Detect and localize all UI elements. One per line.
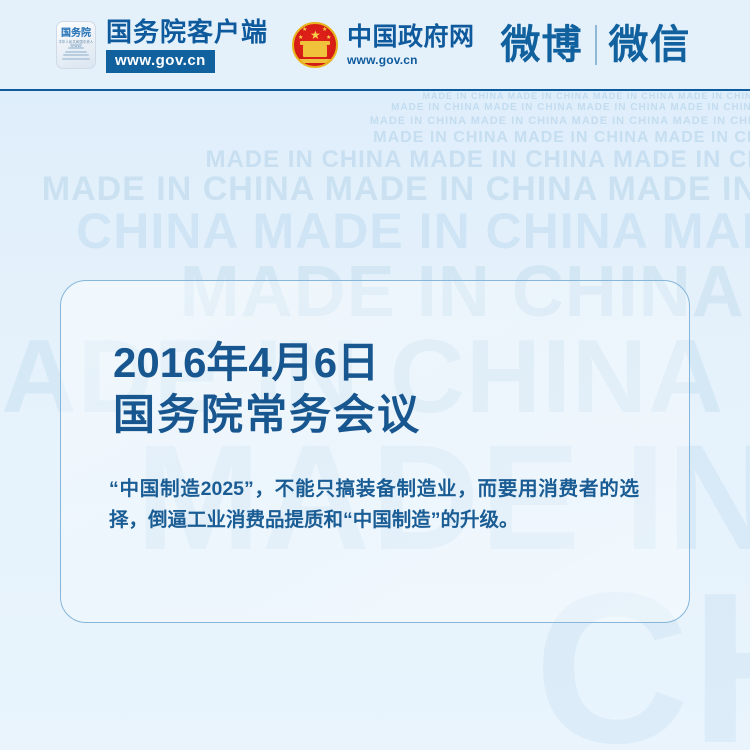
brand-secondary-url[interactable]: www.gov.cn (347, 53, 475, 67)
brand-primary-url-chip[interactable]: www.gov.cn (106, 50, 215, 73)
brand-primary-title: 国务院客户端 (106, 18, 268, 47)
watermark-row: MADE IN CHINA MADE IN CHINA MADE IN CHIN… (370, 116, 750, 127)
watermark-row: MADE IN CHINA MADE IN CHINA MADE IN CHIN… (423, 92, 750, 101)
card-title-subject: 国务院常务会议 (113, 389, 421, 441)
national-emblem-wrap: ★ ★ ★ ★ ★ (292, 22, 338, 68)
card-title: 2016年4月6日 国务院常务会议 (113, 337, 421, 441)
emblem-base-graphic (299, 59, 331, 63)
watermark-row: MADE IN CHINA MADE IN CHINA MADE IN CHIN… (205, 148, 750, 172)
weibo-link[interactable]: 微博 (501, 23, 583, 67)
national-emblem-icon: ★ ★ ★ ★ ★ (292, 22, 338, 68)
weixin-link[interactable]: 微信 (609, 23, 691, 67)
app-icon-label: 国务院 (57, 28, 95, 39)
emblem-star-small: ★ (322, 27, 327, 33)
brand-secondary-title: 中国政府网 (347, 23, 475, 51)
brand-guowuyuan-kehuduan[interactable]: 国务院客户端 www.gov.cn (106, 18, 268, 73)
social-links: 微博 微信 (501, 23, 691, 67)
watermark-row: CHINA MADE IN CHINA MADE IN (76, 206, 750, 256)
app-icon-building-graphic (62, 44, 90, 64)
emblem-gate-graphic (303, 45, 327, 57)
brand-zhongguo-zhengfuwang[interactable]: 中国政府网 www.gov.cn (347, 23, 475, 67)
page-root: MADE IN CHINA MADE IN CHINA MADE IN CHIN… (0, 0, 750, 750)
emblem-star-large: ★ (310, 29, 321, 41)
watermark-row: MADE IN CHINA MADE IN CHINA MADE IN CHI (42, 172, 750, 206)
site-header: 国务院 中华人民共和国中央人民政府 国务院客户端 www.gov.cn ★ ★ … (0, 0, 750, 90)
card-title-date: 2016年4月6日 (113, 337, 421, 389)
emblem-star-small: ★ (302, 27, 307, 33)
watermark-row: MADE IN CHINA MADE IN CHINA MADE IN CHIN… (391, 103, 750, 113)
guowuyuan-app-icon[interactable]: 国务院 中华人民共和国中央人民政府 (56, 21, 96, 69)
content-card: 2016年4月6日 国务院常务会议 “中国制造2025”，不能只搞装备制造业，而… (60, 280, 690, 623)
social-divider (595, 25, 597, 65)
header-divider (0, 89, 750, 91)
watermark-row: MADE IN CHINA MADE IN CHINA MADE IN CHIN… (373, 130, 750, 146)
card-body-text: “中国制造2025”，不能只搞装备制造业，而要用消费者的选择，倒逼工业消费品提质… (109, 474, 639, 536)
